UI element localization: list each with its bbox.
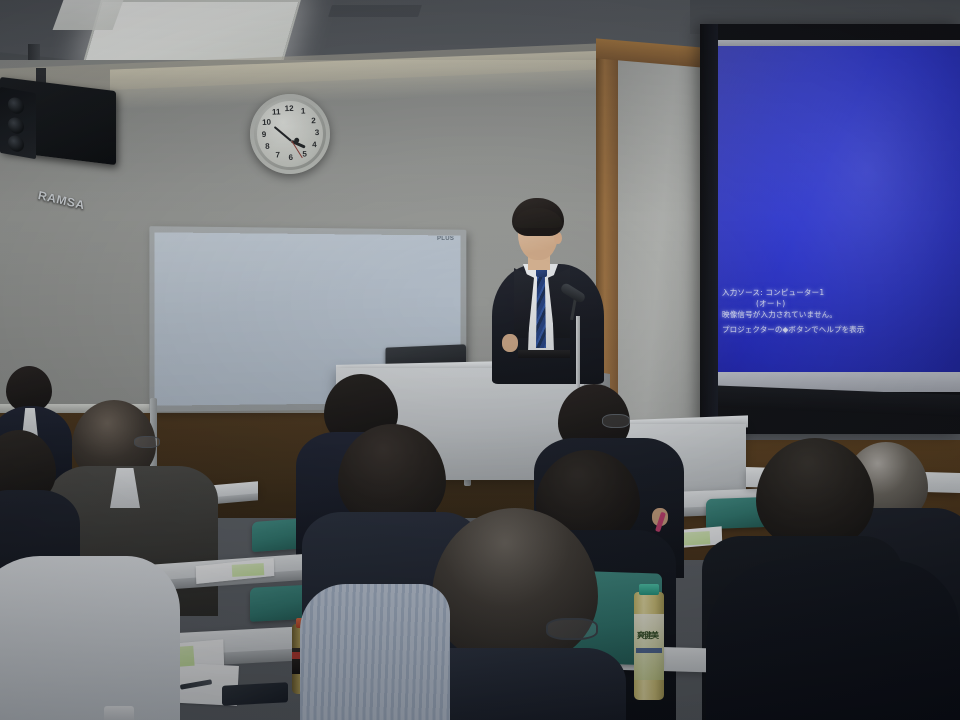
shirt-white: [0, 556, 180, 720]
clock-face: 12 1 2 3 4 5 6 7 8 9 10 11: [256, 100, 324, 168]
clock-tick: 6: [286, 153, 296, 163]
speaker-driver-icon: [8, 96, 24, 115]
eyeglasses: [134, 436, 160, 448]
projector-message-line-2: (オート): [756, 298, 952, 309]
head: [756, 438, 874, 550]
bottle-label-stripe: [636, 648, 662, 653]
speaker-driver-icon: [8, 134, 24, 153]
eyeglasses: [546, 618, 598, 640]
clock-tick: 12: [284, 104, 294, 114]
presenter-belt: [518, 350, 570, 358]
speaker-driver-panel: [0, 87, 36, 159]
ceiling-light-panel-secondary: [53, 0, 124, 30]
bottle-label-text: 爽健美茶: [637, 630, 661, 642]
presenter-hand: [502, 334, 518, 352]
paper-cup: [104, 706, 134, 720]
ceiling-fixture-label: [500, 2, 560, 14]
projection-screen-left-edge: [700, 24, 718, 424]
projector-message-line-4: プロジェクターの◆ボタンでヘルプを表示: [722, 324, 952, 335]
bottle-cap: [639, 584, 659, 595]
clock-tick: 11: [271, 107, 281, 117]
projector-message-line-3: 映像信号が入力されていません。: [722, 309, 952, 320]
paper-highlight-sheet: [232, 563, 265, 577]
shirt-striped: [300, 584, 450, 720]
projector-message-line-1: 入力ソース: コンピューター1: [722, 287, 952, 298]
ceiling-grille: [328, 5, 422, 17]
bottle-label: [634, 614, 664, 680]
projector-no-signal-message: 入力ソース: コンピューター1 (オート) 映像信号が入力されていません。 プロ…: [722, 287, 952, 335]
audience-member: [706, 560, 960, 720]
conference-room-scene: RAMSA 12 1 2 3 4 5 6 7 8 9 10 11 PLUS: [0, 0, 960, 720]
whiteboard-brand-logo: PLUS: [437, 236, 459, 245]
torso: [706, 560, 960, 720]
smartphone[interactable]: [222, 682, 288, 705]
eyeglasses: [602, 414, 630, 428]
clock-tick: 2: [308, 116, 318, 126]
clock-tick: 10: [261, 118, 271, 128]
clock-tick: 4: [309, 140, 319, 150]
clock-tick: 1: [298, 106, 308, 116]
clock-tick: 9: [259, 130, 269, 140]
head: [432, 508, 598, 666]
presenter: [492, 198, 604, 384]
microphone-stand: [576, 316, 580, 388]
clock-tick: 3: [312, 128, 322, 138]
clock-minute-hand: [274, 126, 292, 142]
audience-member: [300, 584, 450, 720]
clock-tick: 8: [262, 142, 272, 152]
clock-tick: 7: [273, 150, 283, 160]
audience-member: [0, 556, 190, 720]
speaker-driver-icon: [8, 116, 24, 135]
